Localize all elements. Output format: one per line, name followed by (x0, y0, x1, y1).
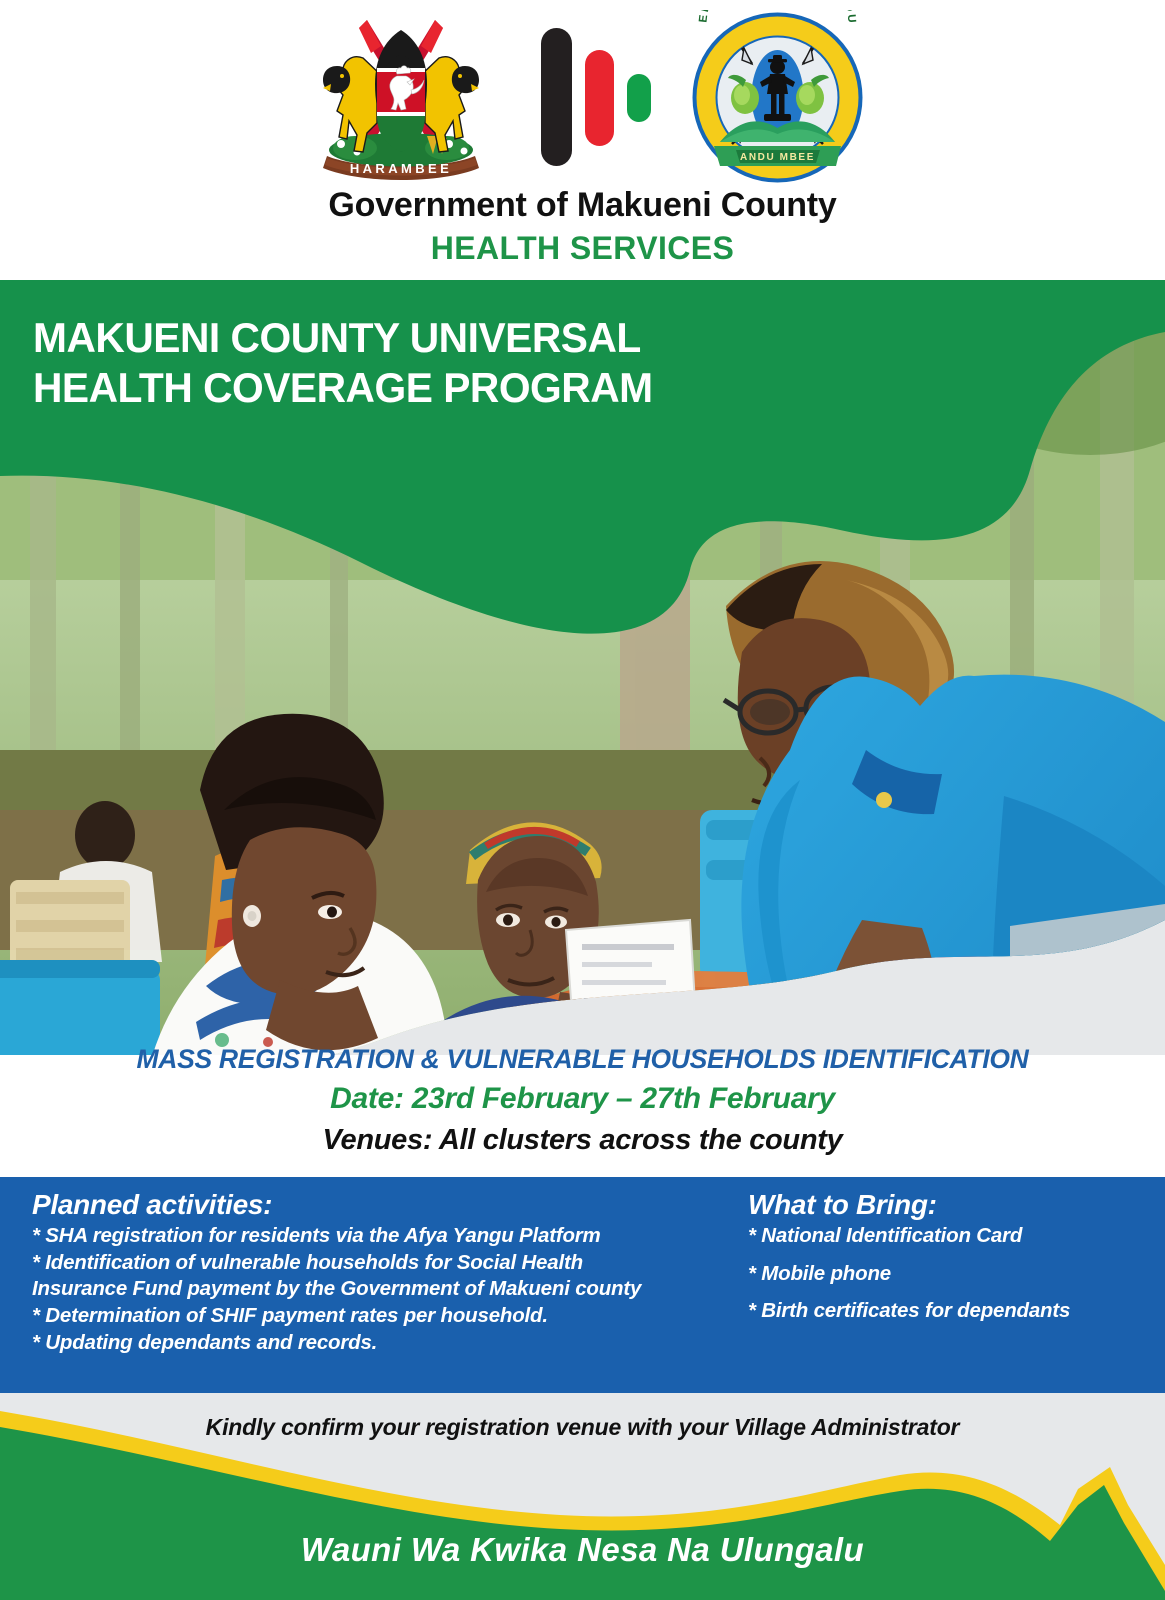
what-to-bring-item: * National Identification Card (748, 1226, 1148, 1247)
poster-footer: Kindly confirm your registration venue w… (0, 1393, 1165, 1600)
planned-activities-item: * Updating dependants and records. (32, 1330, 722, 1357)
planned-activities-column: Planned activities: * SHA registration f… (32, 1189, 722, 1356)
details-blue-box: Planned activities: * SHA registration f… (0, 1177, 1165, 1393)
what-to-bring-heading: What to Bring: (748, 1189, 1148, 1221)
event-subheading: MASS REGISTRATION & VULNERABLE HOUSEHOLD… (0, 1044, 1165, 1075)
poster-header: HARAMBEE GOVERNMENT OF MAKUENI COUNT (0, 0, 1165, 280)
mid-info-section: MASS REGISTRATION & VULNERABLE HOUSEHOLD… (0, 1020, 1165, 1177)
what-to-bring-item: * Mobile phone (748, 1264, 1148, 1285)
hero-title-line-1: MAKUENI COUNTY UNIVERSAL (33, 313, 702, 363)
planned-activities-item: * SHA registration for residents via the… (32, 1223, 722, 1250)
harambee-motto-text: HARAMBEE (349, 161, 451, 176)
makueni-county-seal-icon: GOVERNMENT OF MAKUENI COUNTY (690, 10, 865, 185)
kenya-coat-of-arms-icon: HARAMBEE (301, 10, 501, 185)
health-services-line: HEALTH SERVICES (0, 230, 1165, 267)
logo-row: HARAMBEE GOVERNMENT OF MAKUENI COUNT (0, 8, 1165, 186)
hero-section: MAKUENI COUNTY UNIVERSAL HEALTH COVERAGE… (0, 280, 1165, 1055)
event-date: Date: 23rd February – 27th February (0, 1082, 1165, 1116)
what-to-bring-item: * Birth certificates for dependants (748, 1301, 1148, 1322)
planned-activities-item: Insurance Fund payment by the Government… (32, 1276, 722, 1303)
government-line: Government of Makueni County (0, 186, 1165, 225)
confirmation-note: Kindly confirm your registration venue w… (0, 1414, 1165, 1441)
planned-activities-item: * Identification of vulnerable household… (32, 1250, 722, 1277)
event-venues: Venues: All clusters across the county (0, 1124, 1165, 1157)
hero-title-line-2: HEALTH COVERAGE PROGRAM (33, 363, 702, 413)
hero-title: MAKUENI COUNTY UNIVERSAL HEALTH COVERAGE… (33, 313, 723, 412)
planned-activities-heading: Planned activities: (32, 1189, 722, 1221)
kenya-flag-bars-icon (533, 22, 658, 172)
planned-activities-item: * Determination of SHIF payment rates pe… (32, 1303, 722, 1330)
what-to-bring-column: What to Bring: * National Identification… (748, 1189, 1148, 1339)
footer-tagline: Wauni Wa Kwika Nesa Na Ulungalu (0, 1531, 1165, 1569)
seal-ribbon-text: ANDU MBEE (740, 152, 815, 163)
poster-root: HARAMBEE GOVERNMENT OF MAKUENI COUNT (0, 0, 1165, 1600)
